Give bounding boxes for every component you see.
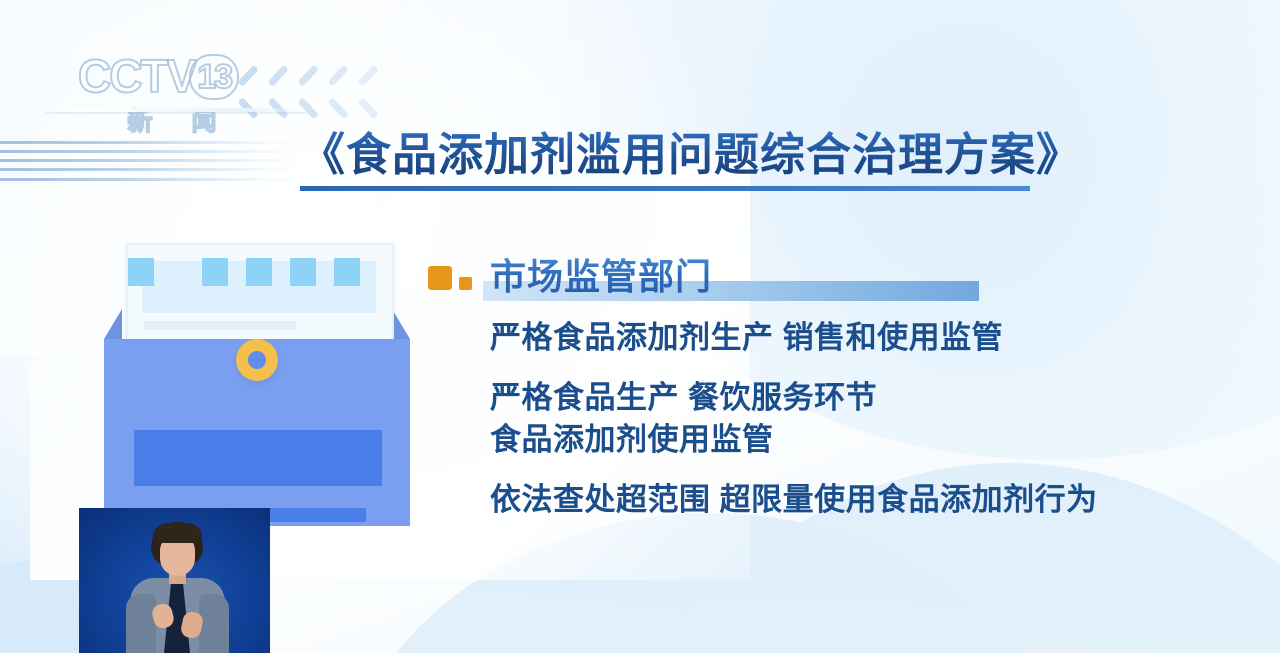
document-tile bbox=[334, 258, 360, 286]
stripe-line bbox=[0, 178, 300, 181]
chevron-left-icon bbox=[356, 70, 386, 114]
content-panel: 市场监管部门 严格食品添加剂生产 销售和使用监管 严格食品生产 餐饮服务环节 食… bbox=[428, 255, 1228, 539]
broadcast-graphic-screen: CCTV13 新 闻 《食品添加剂滥用问题综合治理方案》 市场 bbox=[0, 0, 1280, 653]
document-tile bbox=[128, 258, 154, 286]
measures-list: 严格食品添加剂生产 销售和使用监管 严格食品生产 餐饮服务环节 食品添加剂使用监… bbox=[490, 317, 1228, 521]
document-tile bbox=[290, 258, 316, 286]
section-header: 市场监管部门 bbox=[428, 255, 1228, 303]
envelope-band-wide bbox=[134, 430, 382, 486]
document-text-line bbox=[144, 321, 296, 330]
stripe-line bbox=[0, 168, 300, 171]
envelope-clasp-icon bbox=[236, 339, 278, 381]
list-item-line: 食品添加剂使用监管 bbox=[490, 419, 1228, 461]
interpreter-arm-left bbox=[126, 594, 156, 653]
interpreter-hair-front bbox=[153, 523, 202, 543]
stripe-line bbox=[0, 159, 300, 162]
channel-logo: CCTV13 新 闻 bbox=[78, 52, 268, 132]
channel-number: 13 bbox=[189, 54, 239, 100]
document-paper bbox=[126, 243, 394, 345]
decorative-stripes bbox=[0, 141, 300, 189]
bullet-square-small-icon bbox=[459, 277, 472, 290]
document-tile bbox=[202, 258, 228, 286]
headline-block: 《食品添加剂滥用问题综合治理方案》 bbox=[300, 127, 1082, 191]
headline-underline bbox=[300, 186, 1030, 191]
list-item: 依法查处超范围 超限量使用食品添加剂行为 bbox=[490, 479, 1228, 521]
bullet-square-large-icon bbox=[428, 266, 452, 290]
stripe-line bbox=[0, 150, 300, 153]
stripe-line bbox=[0, 141, 300, 144]
list-item-line: 严格食品添加剂生产 销售和使用监管 bbox=[490, 317, 1228, 359]
envelope-flap-left bbox=[104, 309, 122, 339]
document-tile bbox=[246, 258, 272, 286]
document-envelope-illustration bbox=[104, 243, 410, 526]
interpreter-arm-right bbox=[199, 594, 229, 653]
envelope-flap-right bbox=[392, 309, 410, 339]
page-title: 《食品添加剂滥用问题综合治理方案》 bbox=[300, 127, 1082, 183]
sign-language-interpreter-inset bbox=[79, 508, 270, 653]
channel-mark-text: CCTV bbox=[78, 50, 195, 102]
section-title: 市场监管部门 bbox=[490, 255, 712, 299]
list-item-line: 依法查处超范围 超限量使用食品添加剂行为 bbox=[490, 479, 1228, 521]
channel-mark: CCTV13 bbox=[78, 52, 268, 100]
list-item: 严格食品添加剂生产 销售和使用监管 bbox=[490, 317, 1228, 359]
logo-underline bbox=[46, 108, 306, 112]
list-item-line: 严格食品生产 餐饮服务环节 bbox=[490, 377, 1228, 419]
list-item: 严格食品生产 餐饮服务环节 食品添加剂使用监管 bbox=[490, 377, 1228, 461]
chevron-left-icon bbox=[326, 70, 356, 114]
